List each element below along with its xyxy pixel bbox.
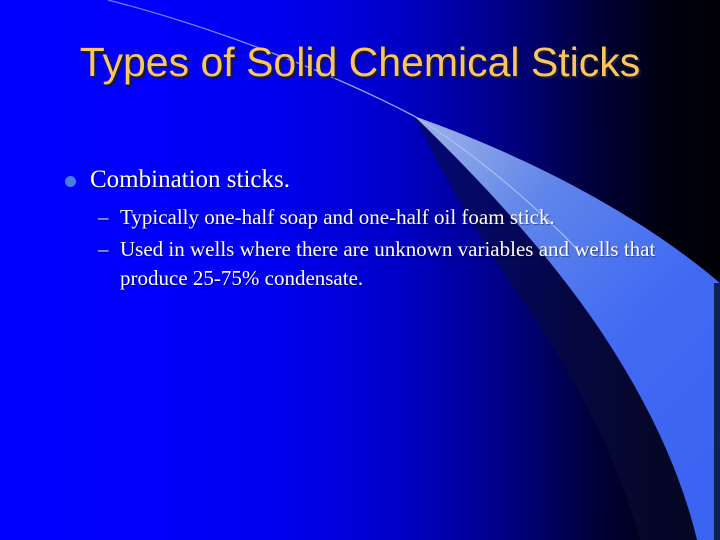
en-dash-icon: – (98, 235, 109, 264)
slide-title: Types of Solid Chemical Sticks (72, 40, 648, 84)
bullet-level2: – Used in wells where there are unknown … (56, 235, 656, 293)
bullet-level2: – Typically one-half soap and one-half o… (56, 203, 656, 232)
slide-body: Combination sticks. – Typically one-half… (56, 165, 656, 296)
en-dash-icon: – (98, 203, 109, 232)
bullet-level1-text: Combination sticks. (90, 166, 290, 193)
bullet-level2-text: Typically one-half soap and one-half oil… (120, 203, 656, 232)
right-edge-sliver (714, 283, 720, 540)
slide-title-text: Types of Solid Chemical Sticks (72, 40, 648, 84)
bullet-dot-icon (65, 176, 76, 187)
bullet-level1: Combination sticks. (56, 165, 656, 195)
bullet-level2-text: Used in wells where there are unknown va… (120, 235, 656, 293)
presentation-slide: Types of Solid Chemical Sticks Combinati… (0, 0, 720, 540)
